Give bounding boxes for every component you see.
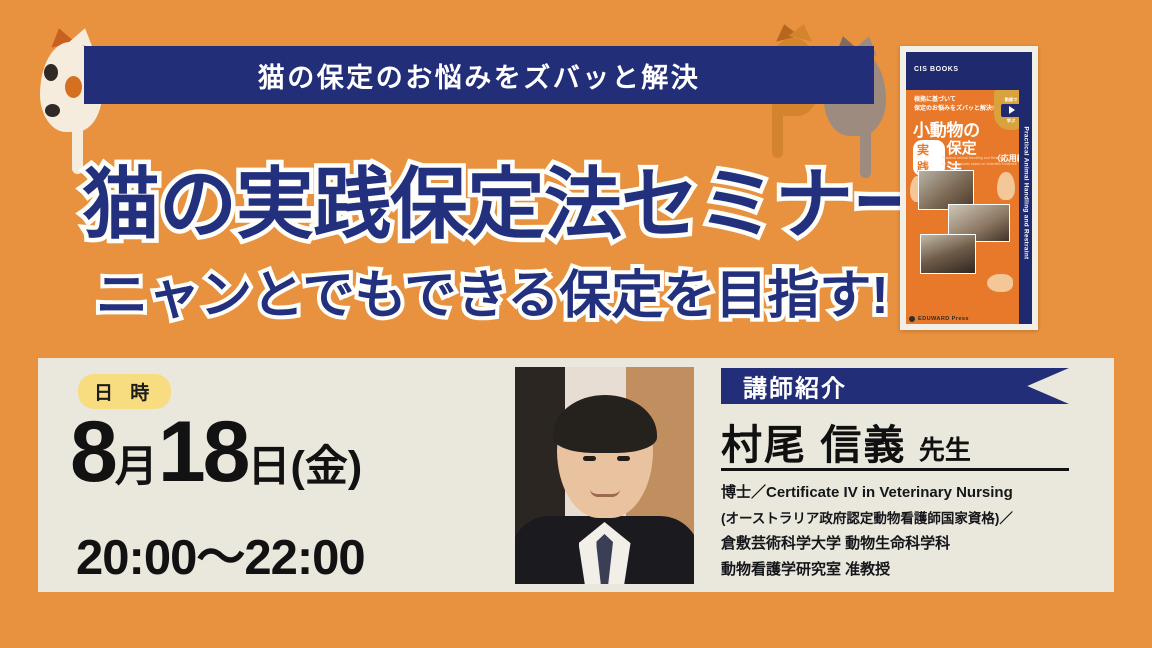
book-cover-inner: CIS BOOKS 根拠に基づいて 保定のお悩みをズバッと解決! 小動物の 実践… bbox=[906, 52, 1032, 324]
book-photo bbox=[920, 234, 976, 274]
book-lead-line2: 保定のお悩みをズバッと解決! bbox=[914, 105, 994, 114]
event-weekday: (金) bbox=[291, 432, 363, 494]
instructor-divider bbox=[721, 468, 1069, 471]
book-photo-collage bbox=[906, 170, 1019, 298]
instructor-photo bbox=[515, 367, 694, 584]
video-badge-bottom-label: 学ぶ bbox=[1007, 118, 1015, 124]
book-spine-text: Practical Animal Handling and Restraint bbox=[1022, 127, 1029, 260]
credential-line: 倉敷芸術科学大学 動物生命科学科 bbox=[721, 531, 1101, 558]
book-english-subtitle: Practical Animal Handling and Restraint … bbox=[942, 156, 1017, 168]
book-lead-text: 根拠に基づいて 保定のお悩みをズバッと解決! bbox=[914, 96, 994, 113]
info-panel: 日 時 8 月 18 日 (金) 20:00〜22:00 講師紹介 村尾 bbox=[38, 358, 1114, 592]
book-lead-line1: 根拠に基づいて bbox=[914, 96, 994, 105]
credential-line: 博士／Certificate IV in Veterinary Nursing bbox=[721, 480, 1101, 507]
photo-mouth bbox=[590, 489, 620, 497]
cat-patch bbox=[45, 104, 60, 117]
poster-canvas: 猫の保定のお悩みをズバッと解決 猫の実践保定法セミナー ニャンとでもできる保定を… bbox=[0, 0, 1152, 648]
header-banner-text: 猫の保定のお悩みをズバッと解決 bbox=[258, 56, 701, 95]
instructor-ribbon: 講師紹介 bbox=[721, 368, 1069, 404]
instructor-name: 村尾 信義 bbox=[721, 422, 906, 468]
cat-patch bbox=[44, 64, 58, 81]
play-icon bbox=[1001, 104, 1021, 117]
publisher-mark-icon bbox=[909, 316, 915, 322]
instructor-credentials: 博士／Certificate IV in Veterinary Nursing … bbox=[721, 480, 1101, 584]
book-imprint: CIS BOOKS bbox=[914, 66, 959, 73]
page-subtitle: ニャンとでもできる保定を目指す! bbox=[96, 253, 889, 328]
cat-silhouette-icon bbox=[987, 274, 1013, 292]
credential-line: 動物看護学研究室 准教授 bbox=[721, 557, 1101, 584]
event-month-number: 8 bbox=[70, 412, 115, 494]
header-banner: 猫の保定のお悩みをズバッと解決 bbox=[84, 46, 874, 104]
photo-eye-left bbox=[583, 456, 596, 461]
instructor-name-row: 村尾 信義 先生 bbox=[721, 411, 971, 471]
event-day-number: 18 bbox=[158, 412, 248, 494]
instructor-honorific: 先生 bbox=[919, 435, 971, 465]
book-author: 村尾信義 著 bbox=[913, 158, 934, 164]
photo-eye-right bbox=[617, 456, 630, 461]
cat-patch bbox=[65, 76, 82, 98]
instructor-ribbon-label: 講師紹介 bbox=[743, 369, 847, 404]
cat-silhouette-icon bbox=[997, 172, 1015, 200]
publisher-name: EDUWARD Press bbox=[918, 316, 969, 322]
credential-line: (オーストラリア政府認定動物看護師国家資格)／ bbox=[721, 507, 1101, 531]
book-cover: CIS BOOKS 根拠に基づいて 保定のお悩みをズバッと解決! 小動物の 実践… bbox=[900, 46, 1038, 330]
event-date: 8 月 18 日 (金) bbox=[70, 412, 362, 494]
video-badge-top-label: 動画で bbox=[1005, 97, 1018, 103]
book-english-line2: for Small Animals based on Scientific Ev… bbox=[942, 162, 1017, 168]
event-time: 20:00〜22:00 bbox=[76, 518, 365, 589]
publisher-logo: EDUWARD Press bbox=[909, 316, 969, 322]
event-month-unit: 月 bbox=[115, 432, 158, 494]
page-title: 猫の実践保定法セミナー bbox=[82, 142, 929, 254]
book-spine: Practical Animal Handling and Restraint bbox=[1019, 52, 1032, 324]
event-day-unit: 日 bbox=[248, 432, 291, 494]
